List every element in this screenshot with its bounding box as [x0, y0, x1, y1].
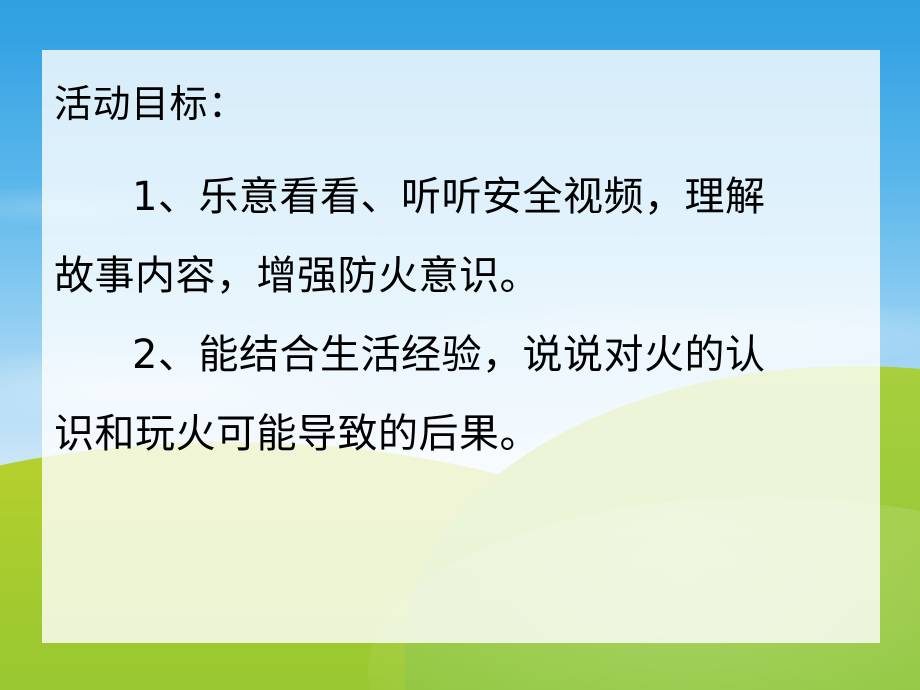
objective-1-line-2: 故事内容，增强防火意识。	[50, 237, 864, 316]
objective-2-line-2: 识和玩火可能导致的后果。	[50, 395, 864, 474]
heading-spacer	[50, 136, 864, 158]
content-panel: 活动目标： 1、乐意看看、听听安全视频，理解 故事内容，增强防火意识。 2、能结…	[42, 50, 880, 643]
objective-1-line-1: 1、乐意看看、听听安全视频，理解	[50, 158, 864, 237]
page-title: 活动目标：	[50, 72, 864, 136]
objective-2-line-1: 2、能结合生活经验，说说对火的认	[50, 316, 864, 395]
slide: 活动目标： 1、乐意看看、听听安全视频，理解 故事内容，增强防火意识。 2、能结…	[0, 0, 920, 690]
